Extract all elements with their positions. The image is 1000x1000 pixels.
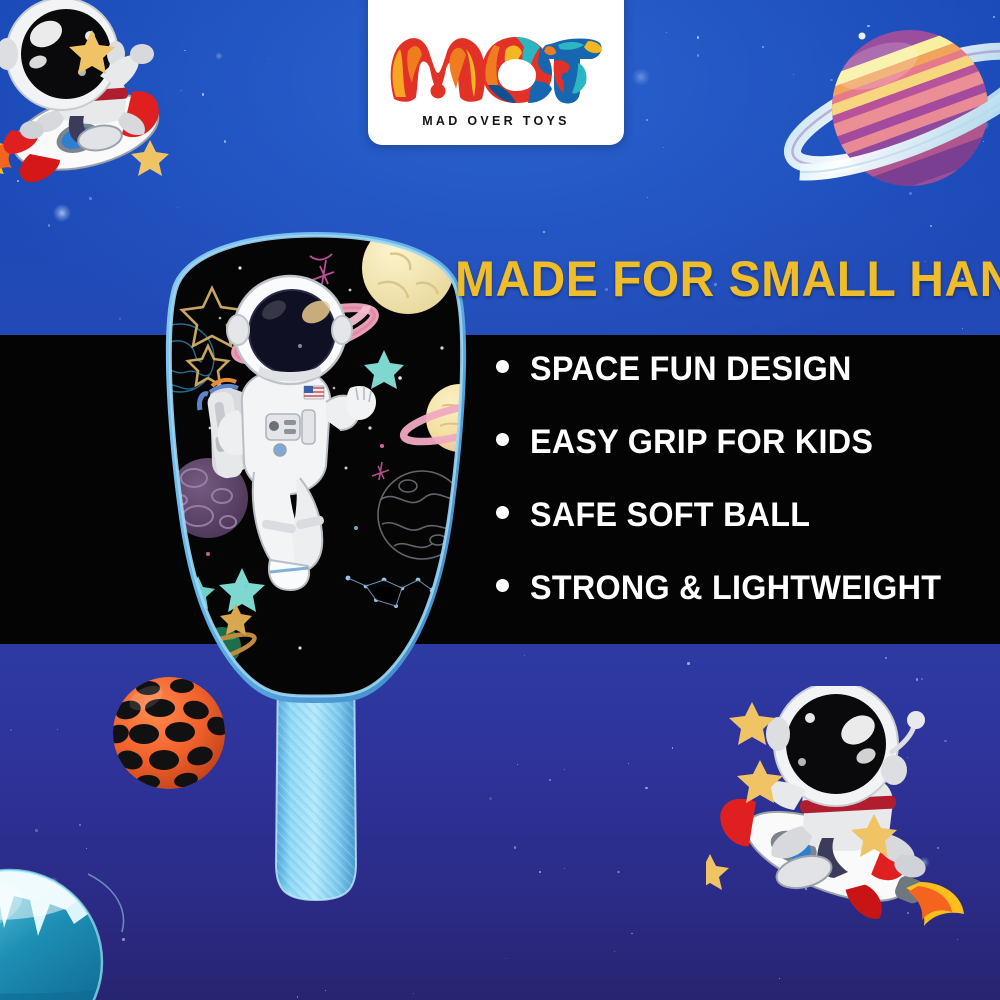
feature-label: SPACE FUN DESIGN [530,352,852,386]
bullet-dot-icon [496,506,509,519]
feature-label: EASY GRIP FOR KIDS [530,425,873,459]
brand-wordmark: MAD OVER TOYS [422,114,570,128]
list-item: EASY GRIP FOR KIDS [496,425,996,459]
brand-logo-card[interactable]: MAD OVER TOYS [368,0,624,145]
astronaut-on-rocket-icon [0,0,192,197]
mot-logo-icon [388,33,604,105]
ice-planet-icon [0,866,138,1000]
pickleball-paddle[interactable] [150,228,480,928]
feature-label: SAFE SOFT BALL [530,498,810,532]
feature-label: STRONG & LIGHTWEIGHT [530,571,941,605]
bullet-dot-icon [496,579,509,592]
list-item: SAFE SOFT BALL [496,498,996,532]
list-item: STRONG & LIGHTWEIGHT [496,571,996,605]
promo-banner: MAD OVER TOYS MADE FOR SMALL HANDS SPACE… [0,0,1000,1000]
paddle-face-art [150,228,480,708]
astronaut-on-rocket-icon [706,686,976,946]
bullet-dot-icon [496,360,509,373]
page-title: MADE FOR SMALL HANDS [455,254,964,304]
bullet-dot-icon [496,433,509,446]
feature-list: SPACE FUN DESIGN EASY GRIP FOR KIDS SAFE… [496,352,996,644]
list-item: SPACE FUN DESIGN [496,352,996,386]
ringed-planet-icon [758,8,1000,208]
